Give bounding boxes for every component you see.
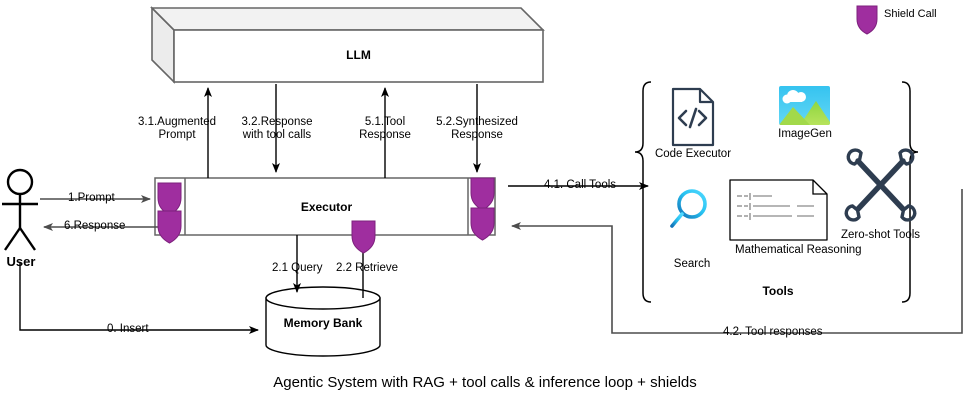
tool-label-zero-shot-tools: Zero-shot Tools	[841, 228, 917, 243]
diagram-canvas: LLM Executor User Memory Bank 3.1.Augmen…	[0, 0, 970, 411]
tool-label-search: Search	[659, 258, 725, 271]
legend-label: Shield Call	[884, 8, 937, 21]
diagram-caption: Agentic System with RAG + tool calls & i…	[0, 376, 970, 389]
code-document-icon	[673, 89, 713, 145]
tools-group-label: Tools	[738, 284, 818, 298]
edge-label-response-with-tool-calls: 3.2.Response with tool calls	[229, 116, 325, 142]
tool-label-mathematical-reasoning: Mathematical Reasoning	[735, 243, 823, 258]
executor-label: Executor	[185, 200, 468, 214]
edge-label-call-tools: 4.1. Call Tools	[544, 179, 616, 192]
user-figure-icon	[2, 170, 38, 250]
shield-icon-memory	[352, 221, 375, 253]
edge-label-synthesized-response: 5.2.Synthesized Response	[428, 116, 526, 142]
edge-label-response: 6.Response	[64, 220, 125, 233]
magnifier-icon	[672, 191, 705, 226]
edge-label-query: 2.1 Query	[272, 262, 323, 275]
edge-label-insert: 0. Insert	[107, 323, 149, 336]
edge-label-tool-response: 5.1.Tool Response	[347, 116, 423, 142]
tool-label-imagegen: ImageGen	[769, 128, 841, 141]
shield-icon-legend	[857, 6, 877, 34]
shield-icon-executor-in-bottom	[158, 211, 181, 243]
edge-label-tool-responses: 4.2. Tool responses	[723, 326, 823, 339]
edge-label-augmented-prompt: 3.1.Augmented Prompt	[137, 116, 217, 142]
math-document-icon	[730, 180, 827, 240]
image-icon	[779, 86, 832, 125]
edge-insert	[20, 262, 258, 330]
edge-label-retrieve: 2.2 Retrieve	[336, 262, 398, 275]
memory-bank-label: Memory Bank	[266, 316, 380, 330]
llm-label: LLM	[174, 48, 543, 62]
tool-label-code-executor: Code Executor	[653, 148, 733, 161]
tools-brace-left	[635, 82, 651, 302]
llm-node-shape	[152, 8, 543, 82]
user-label: User	[0, 254, 42, 269]
edge-label-prompt: 1.Prompt	[68, 192, 115, 205]
tools-brace-right	[902, 82, 918, 302]
crossed-wrenches-icon	[858, 161, 903, 209]
